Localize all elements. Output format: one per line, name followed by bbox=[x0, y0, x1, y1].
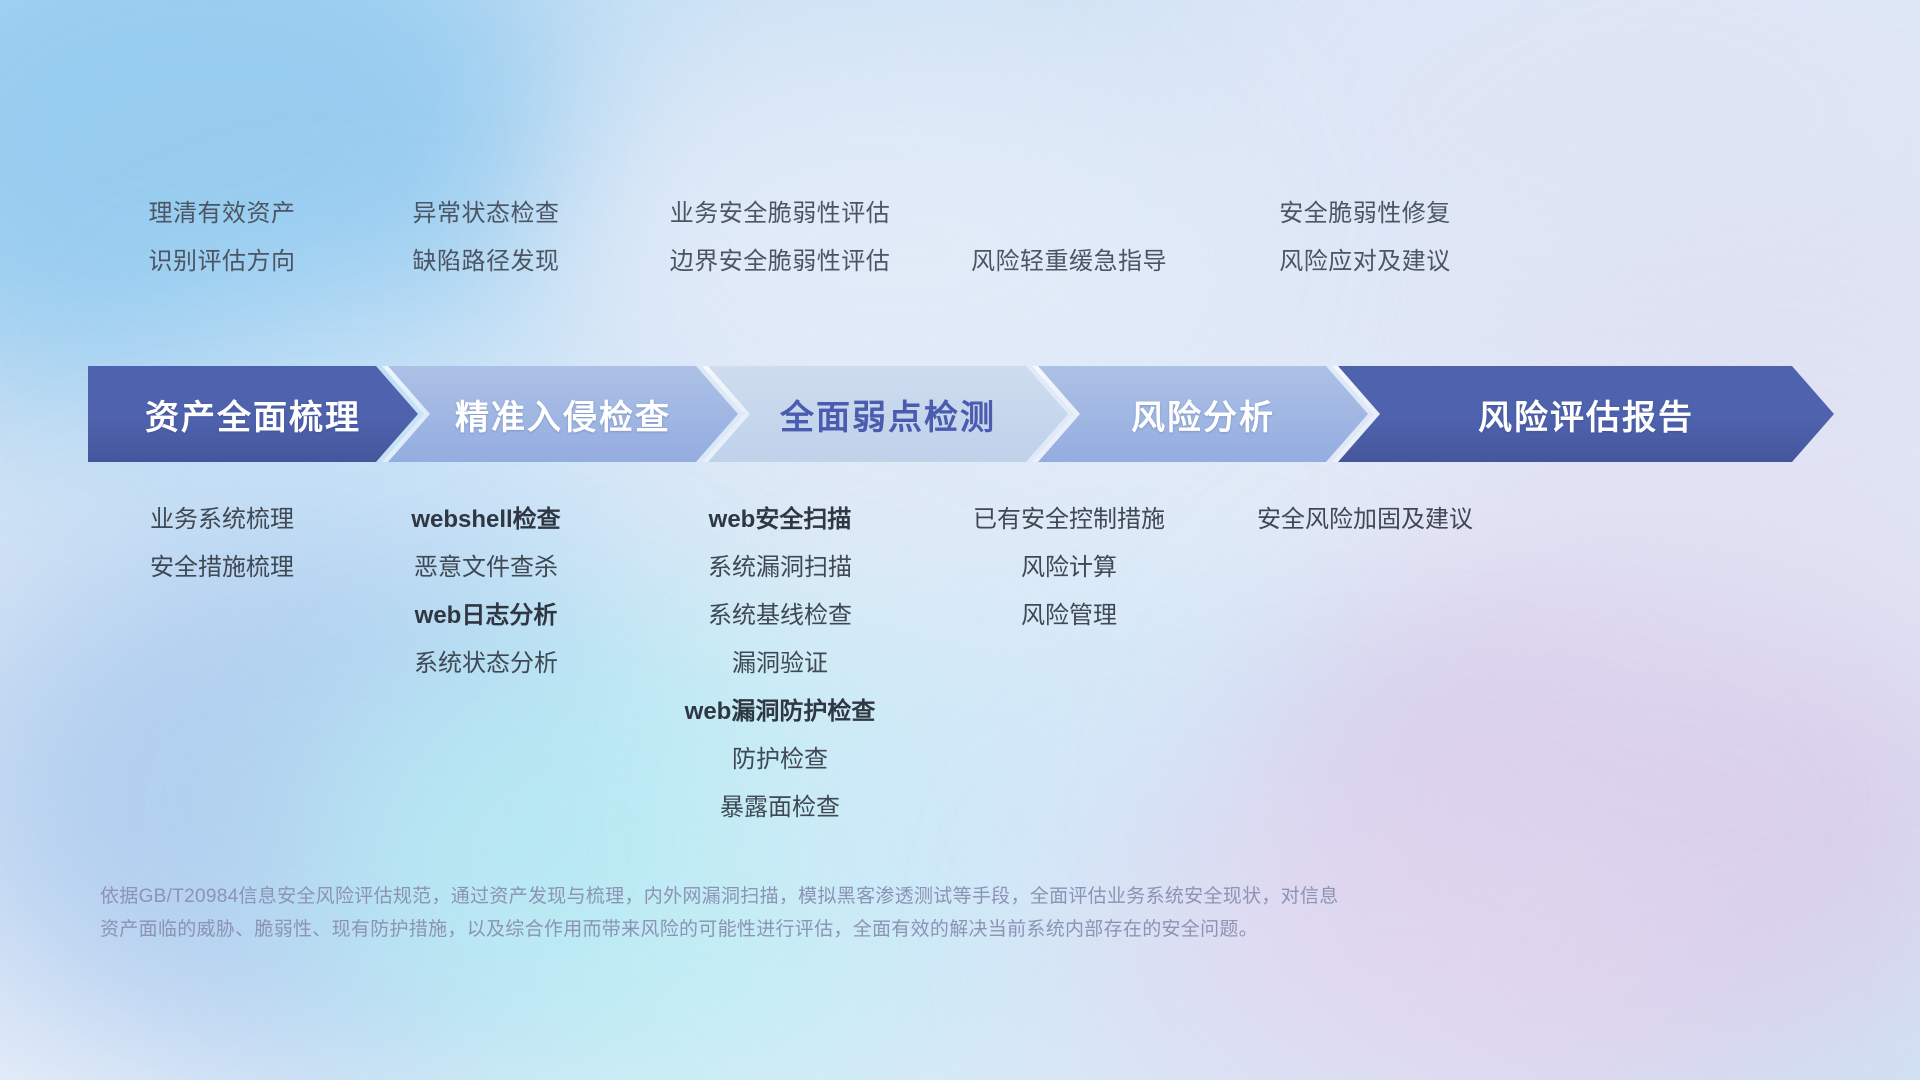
stage-detail-item: 风险计算 bbox=[809, 544, 1329, 592]
stage-arrow-label: 精准入侵检查 bbox=[455, 390, 671, 439]
stage-arrow-label: 风险分析 bbox=[1131, 390, 1275, 439]
footer-line-1: 依据GB/T20984信息安全风险评估规范，通过资产发现与梳理，内外网漏洞扫描，… bbox=[100, 880, 1660, 913]
stage-detail-item: web漏洞防护检查 bbox=[520, 688, 1040, 736]
footer-description: 依据GB/T20984信息安全风险评估规范，通过资产发现与梳理，内外网漏洞扫描，… bbox=[100, 880, 1660, 946]
stage-arrow-label: 全面弱点检测 bbox=[780, 390, 996, 439]
stage-detail-item: 安全风险加固及建议 bbox=[1105, 496, 1625, 544]
top-label-row: 理清有效资产识别评估方向 异常状态检查缺陷路径发现 业务安全脆弱性评估边界安全脆… bbox=[0, 0, 1920, 290]
stage-arrow-5[interactable]: 风险评估报告 bbox=[1338, 366, 1834, 462]
stage-arrow-2[interactable]: 精准入侵检查 bbox=[388, 366, 738, 462]
stage-detail-item: 漏洞验证 bbox=[520, 640, 1040, 688]
top-label-line: 业务安全脆弱性评估 bbox=[520, 190, 1040, 238]
stage-detail-item: 防护检查 bbox=[520, 736, 1040, 784]
top-label-line: 风险应对及建议 bbox=[1105, 238, 1625, 286]
process-diagram: 理清有效资产识别评估方向 异常状态检查缺陷路径发现 业务安全脆弱性评估边界安全脆… bbox=[0, 0, 1920, 1080]
footer-line-2: 资产面临的威胁、脆弱性、现有防护措施，以及综合作用而带来风险的可能性进行评估，全… bbox=[100, 913, 1660, 946]
stage-arrow-label: 资产全面梳理 bbox=[145, 390, 361, 439]
stage-arrow-4[interactable]: 风险分析 bbox=[1038, 366, 1368, 462]
stage-arrow-banner: 资产全面梳理精准入侵检查全面弱点检测风险分析风险评估报告 bbox=[88, 366, 1834, 462]
top-label-group-5: 安全脆弱性修复风险应对及建议 bbox=[1105, 190, 1625, 286]
stage-detail-item: 暴露面检查 bbox=[520, 784, 1040, 832]
stage-arrow-label: 风险评估报告 bbox=[1478, 390, 1694, 439]
stage-arrow-3[interactable]: 全面弱点检测 bbox=[708, 366, 1068, 462]
stage-detail-item: 风险管理 bbox=[809, 592, 1329, 640]
top-label-line: 安全脆弱性修复 bbox=[1105, 190, 1625, 238]
stage-arrow-1[interactable]: 资产全面梳理 bbox=[88, 366, 418, 462]
stage-detail-list-5: 安全风险加固及建议 bbox=[1105, 496, 1625, 544]
